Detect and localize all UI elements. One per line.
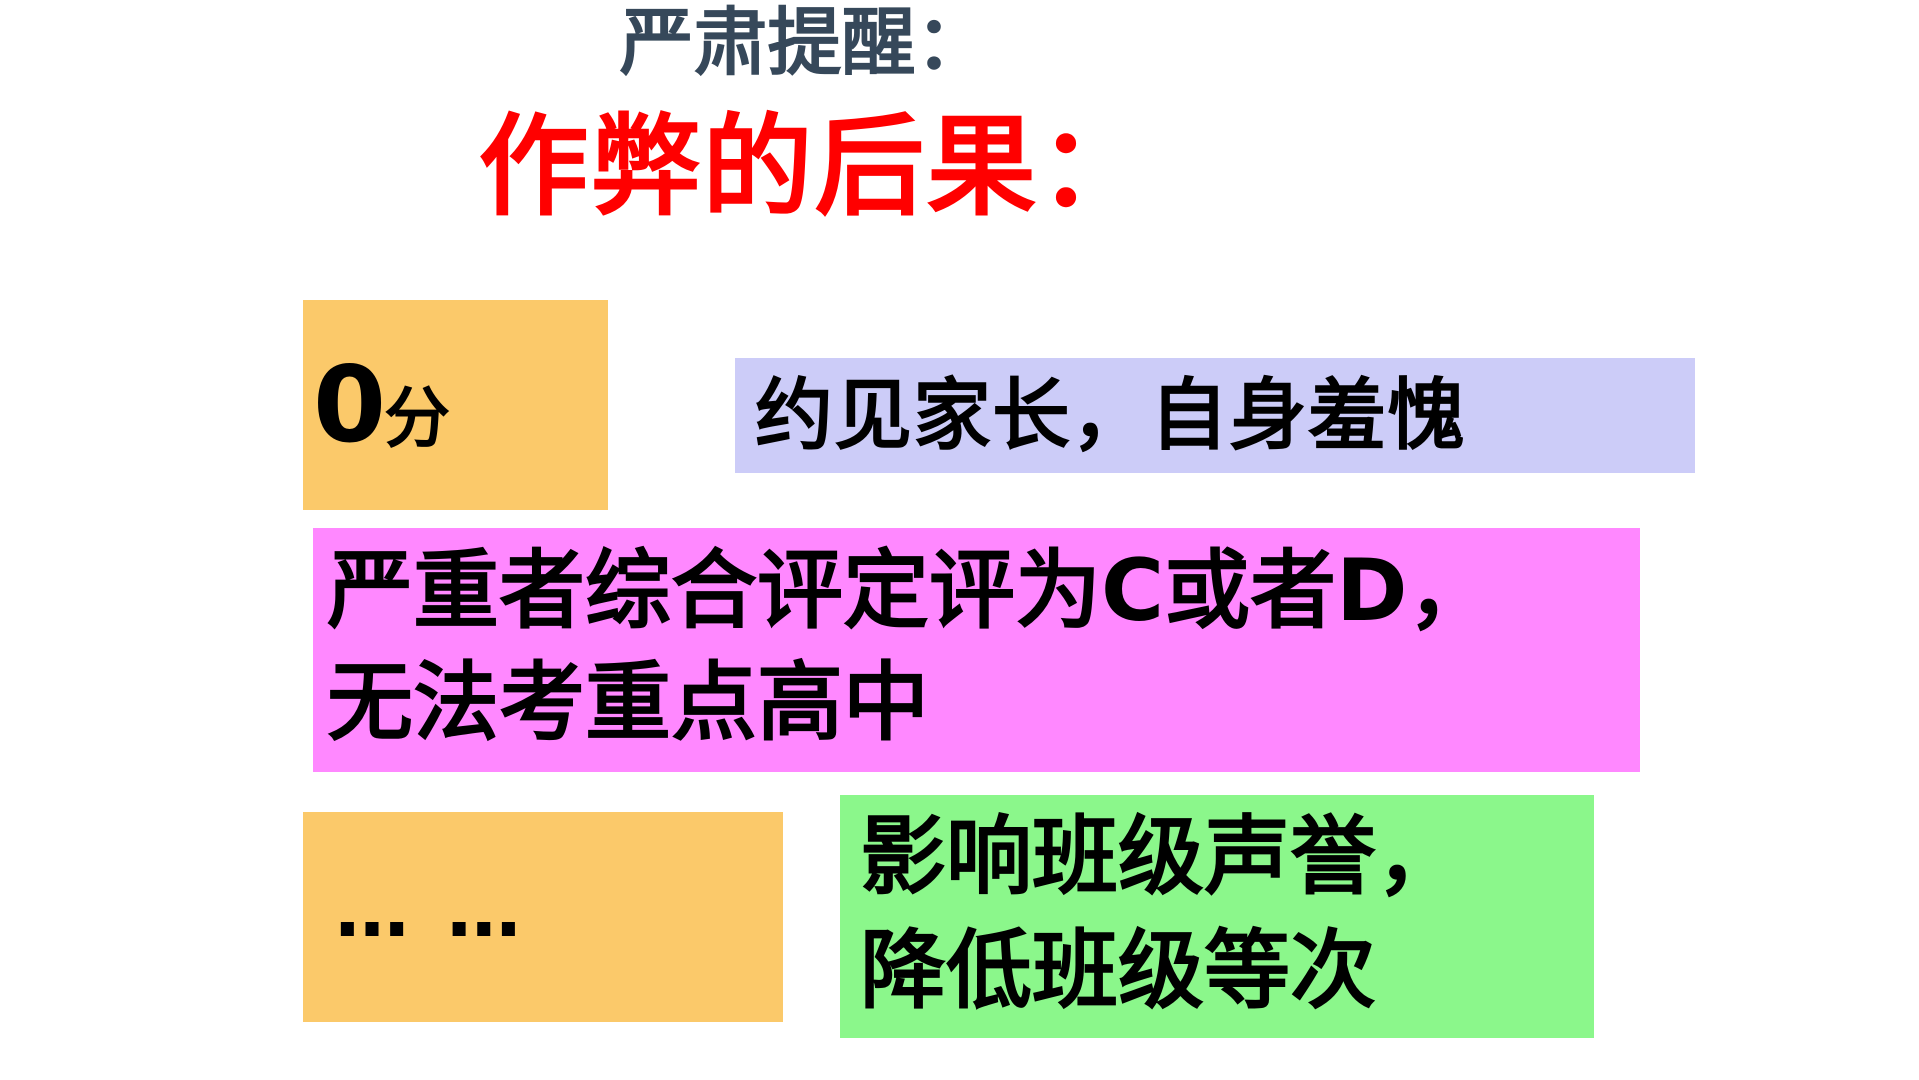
class-reputation-line-1: 影响班级声誉， (860, 801, 1594, 915)
grade-text-line-1: 严重者综合评定评为C或者D， (327, 536, 1640, 648)
grade-text-line-2: 无法考重点高中 (327, 648, 1640, 760)
callout-box-class-reputation: 影响班级声誉， 降低班级等次 (840, 795, 1594, 1038)
ellipsis-text: … … (335, 874, 527, 948)
slide-canvas: 严肃提醒： 作弊的后果： 0分 约见家长，自身羞愧 严重者综合评定评为C或者D，… (0, 0, 1919, 1080)
callout-box-ellipsis: … … (303, 812, 783, 1022)
zero-score-unit: 分 (384, 380, 450, 457)
page-title-warning: 严肃提醒： (0, 6, 1764, 80)
zero-score-text: 0分 (313, 353, 608, 458)
callout-box-parents: 约见家长，自身羞愧 (735, 358, 1695, 473)
callout-box-zero-score: 0分 (303, 300, 608, 510)
parents-text: 约见家长，自身羞愧 (755, 377, 1695, 455)
class-reputation-line-2: 降低班级等次 (860, 915, 1594, 1029)
callout-box-grade: 严重者综合评定评为C或者D， 无法考重点高中 (313, 528, 1640, 772)
page-title-consequence: 作弊的后果： (0, 112, 1774, 222)
zero-score-number: 0 (313, 344, 384, 466)
